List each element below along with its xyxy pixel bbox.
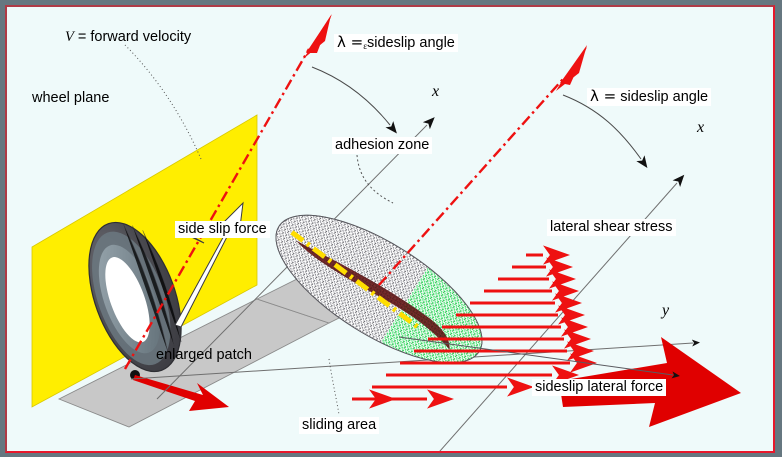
label-sideslip-angle-right: λ = sideslip angle	[587, 88, 711, 106]
axis-label-x-right: x	[697, 119, 704, 137]
figure-frame: V = forward velocity wheel plane side sl…	[0, 0, 782, 457]
label-side-slip-force: side slip force	[175, 221, 270, 238]
label-enlarged-patch: enlarged patch	[153, 347, 255, 364]
label-sideslip-angle-left: λ =εsideslip angle	[334, 34, 458, 52]
axis-label-y: y	[662, 302, 669, 320]
label-forward-velocity-text: = forward velocity	[78, 29, 191, 45]
velocity-vector-right	[379, 45, 587, 285]
diagram-canvas: V = forward velocity wheel plane side sl…	[5, 5, 775, 453]
label-lateral-shear-stress: lateral shear stress	[547, 219, 676, 236]
angle-arc-left	[312, 67, 390, 125]
label-adhesion-zone: adhesion zone	[332, 137, 432, 154]
symbol-V: V	[65, 29, 74, 45]
lambda-symbol-right: λ =	[590, 87, 616, 105]
label-sideslip-lateral-force: sideslip lateral force	[532, 379, 666, 396]
label-sideslip-angle-right-text: sideslip angle	[620, 89, 708, 105]
label-wheel-plane: wheel plane	[29, 90, 112, 107]
label-forward-velocity: V = forward velocity	[62, 29, 194, 46]
lambda-symbol-left: λ =	[337, 33, 363, 51]
label-sliding-area: sliding area	[299, 417, 379, 434]
axis-label-x-left: x	[432, 83, 439, 101]
label-sideslip-angle-left-text: sideslip angle	[367, 35, 455, 51]
